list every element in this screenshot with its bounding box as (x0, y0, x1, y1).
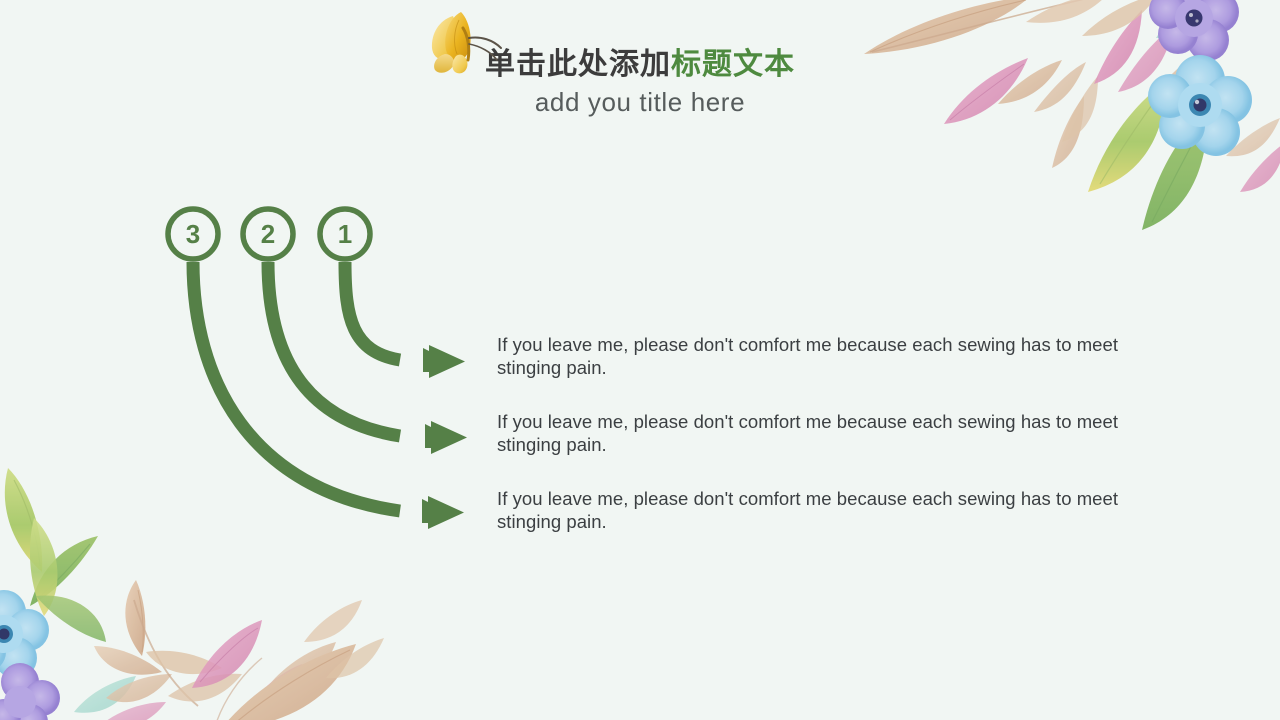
marker-1[interactable]: 1 (320, 209, 370, 259)
marker-1-label: 1 (338, 219, 352, 249)
list-item[interactable]: If you leave me, please don't comfort me… (497, 488, 1125, 533)
list-item[interactable]: If you leave me, please don't comfort me… (497, 411, 1125, 456)
list-item-text: If you leave me, please don't comfort me… (497, 334, 1125, 379)
list-item-text: If you leave me, please don't comfort me… (497, 488, 1125, 533)
list-item-text: If you leave me, please don't comfort me… (497, 411, 1125, 456)
marker-3[interactable]: 3 (168, 209, 218, 259)
curved-arrow-1 (345, 262, 465, 378)
marker-2[interactable]: 2 (243, 209, 293, 259)
marker-2-label: 2 (261, 219, 275, 249)
slide-canvas: 单击此处添加标题文本 add you title here 3 2 (0, 0, 1280, 720)
marker-3-label: 3 (186, 219, 200, 249)
list-item[interactable]: If you leave me, please don't comfort me… (497, 334, 1125, 379)
curved-arrow-3 (193, 262, 464, 529)
